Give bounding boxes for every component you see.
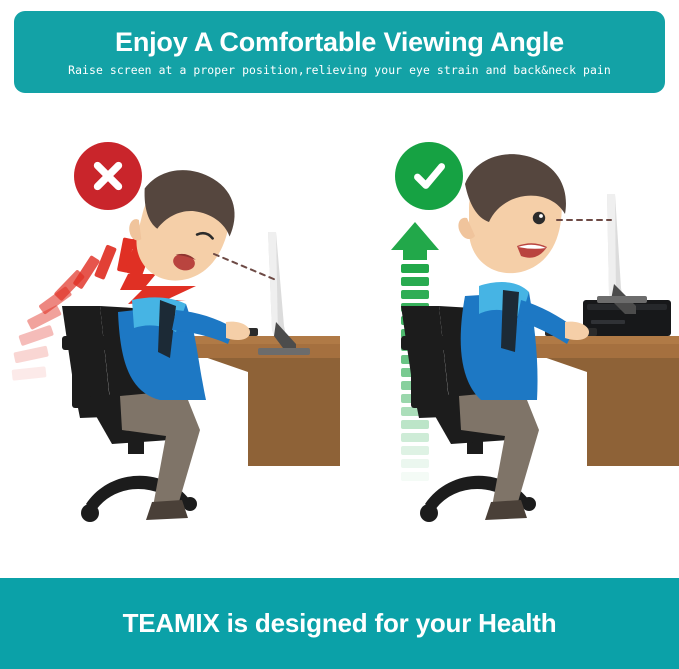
- monitor: [597, 194, 647, 314]
- header-banner: Enjoy A Comfortable Viewing Angle Raise …: [14, 11, 665, 93]
- comparison-illustration: [0, 100, 679, 570]
- product-infographic: Enjoy A Comfortable Viewing Angle Raise …: [0, 0, 679, 669]
- header-subtitle: Raise screen at a proper position,reliev…: [68, 63, 611, 77]
- status-badge-correct: [395, 142, 463, 210]
- check-icon: [408, 155, 450, 197]
- status-badge-incorrect: [74, 142, 142, 210]
- sight-line: [214, 254, 276, 280]
- panel-correct-posture: [339, 100, 679, 570]
- page-title: Enjoy A Comfortable Viewing Angle: [115, 28, 564, 56]
- cross-icon: [87, 155, 129, 197]
- footer-banner: TEAMIX is designed for your Health: [0, 578, 679, 669]
- footer-tagline: TEAMIX is designed for your Health: [123, 608, 557, 639]
- panel-incorrect-posture: [0, 100, 340, 570]
- head-smiling: [458, 154, 566, 273]
